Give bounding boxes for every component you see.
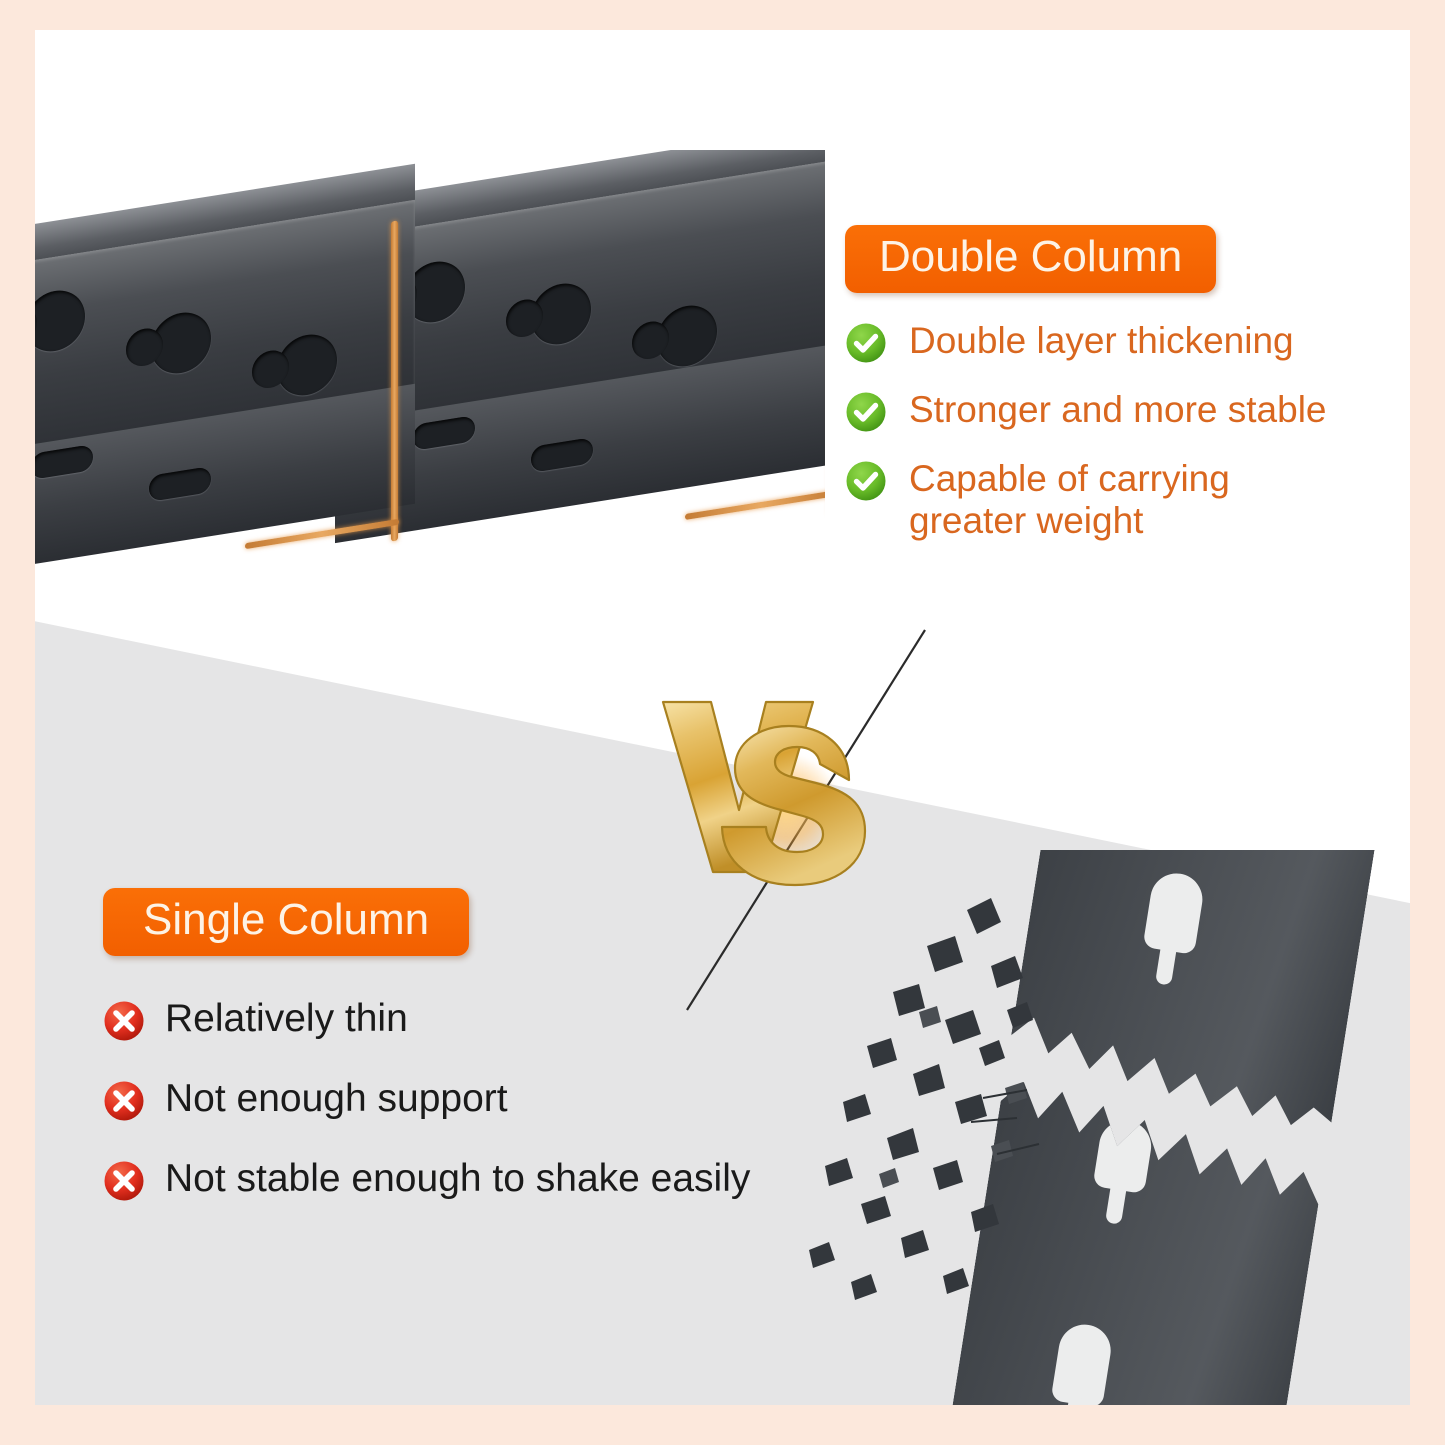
list-item: Relatively thin — [103, 996, 923, 1042]
list-item-label: Not stable enough to shake easily — [165, 1156, 750, 1201]
cross-circle-icon — [103, 1160, 145, 1202]
list-item: Not stable enough to shake easily — [103, 1156, 923, 1202]
double-column-panel: Double Column Double layer thickening — [845, 225, 1410, 565]
double-column-photo — [35, 150, 825, 620]
content-stage: Double Column Double layer thickening — [35, 30, 1410, 1405]
check-circle-icon — [845, 460, 887, 502]
double-column-label-pill: Double Column — [845, 225, 1216, 293]
list-item-label: Relatively thin — [165, 996, 408, 1041]
list-item-label: Double layer thickening — [909, 319, 1294, 361]
single-column-label-pill: Single Column — [103, 888, 469, 956]
list-item-label: Capable of carrying greater weight — [909, 457, 1339, 541]
single-column-bullet-list: Relatively thin Not enough support — [103, 996, 923, 1202]
single-column-label: Single Column — [143, 895, 429, 944]
versus-text-wrap — [635, 650, 915, 920]
list-item: Not enough support — [103, 1076, 923, 1122]
check-circle-icon — [845, 322, 887, 364]
cross-circle-icon — [103, 1080, 145, 1122]
versus-emblem — [635, 650, 915, 920]
single-column-panel: Single Column Relatively thin — [103, 888, 923, 1236]
list-item: Capable of carrying greater weight — [845, 457, 1410, 541]
vs-letters — [635, 660, 915, 910]
cross-circle-icon — [103, 1000, 145, 1042]
infographic-page: Double Column Double layer thickening — [0, 0, 1445, 1445]
double-column-bullet-list: Double layer thickening Stronger and mor… — [845, 319, 1410, 541]
list-item: Double layer thickening — [845, 319, 1410, 364]
check-circle-icon — [845, 391, 887, 433]
list-item: Stronger and more stable — [845, 388, 1410, 433]
steel-beam-front — [35, 205, 415, 620]
list-item-label: Not enough support — [165, 1076, 508, 1121]
double-column-label: Double Column — [879, 232, 1182, 281]
list-item-label: Stronger and more stable — [909, 388, 1327, 430]
